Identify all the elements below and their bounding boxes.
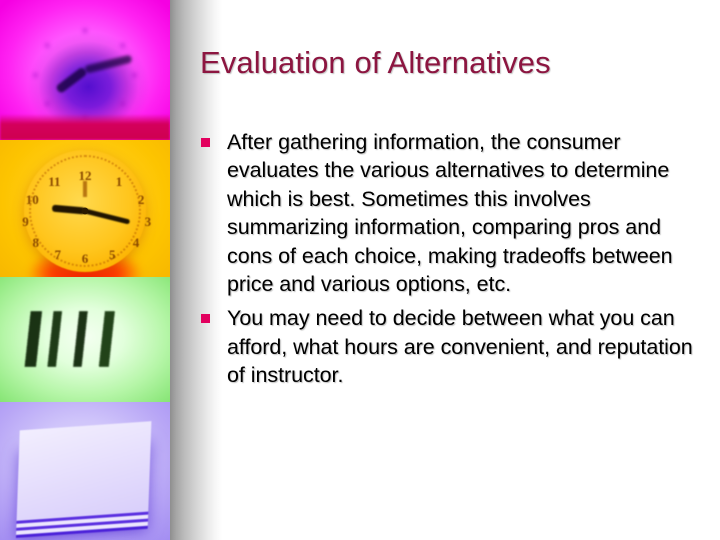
clock-numeral-10: 10 [26,192,39,208]
clock-numeral-8: 8 [32,235,39,251]
photo-papers-purple [0,402,170,540]
clock-numeral-11: 11 [48,174,60,190]
slide-content-area: Evaluation of Alternatives After gatheri… [196,0,720,540]
clock-numeral-1: 1 [116,174,123,190]
clock-numeral-2: 2 [138,192,145,208]
presentation-slide: 12 1 2 3 4 5 6 7 8 9 10 11 Evaluation of… [0,0,720,540]
clock-numeral-4: 4 [133,235,140,251]
list-item-text: You may need to decide between what you … [227,306,693,387]
clock-numeral-7: 7 [55,247,62,263]
square-bullet-icon [201,138,210,147]
photo-clock-yellow: 12 1 2 3 4 5 6 7 8 9 10 11 [0,140,170,277]
square-bullet-icon [201,314,210,323]
bullet-list: After gathering information, the consume… [196,128,696,396]
photo-papers-green [0,277,170,402]
page-title: Evaluation of Alternatives [200,44,710,82]
clock-numeral-3: 3 [145,214,152,230]
list-item: After gathering information, the consume… [196,128,696,298]
list-item: You may need to decide between what you … [196,304,696,389]
clock-numeral-5: 5 [109,247,116,263]
left-photo-strip: 12 1 2 3 4 5 6 7 8 9 10 11 [0,0,170,540]
photo-clock-magenta [0,0,170,140]
papers-stack-icon [17,421,152,521]
clock-center-pin-icon [82,208,89,215]
clock-numeral-6: 6 [82,251,89,267]
clock-numeral-9: 9 [22,214,29,230]
papers-stack-icon [11,311,148,367]
magenta-panel-bottom-band [0,114,170,140]
clock-numeral-12: 12 [79,168,92,184]
list-item-text: After gathering information, the consume… [227,130,673,296]
